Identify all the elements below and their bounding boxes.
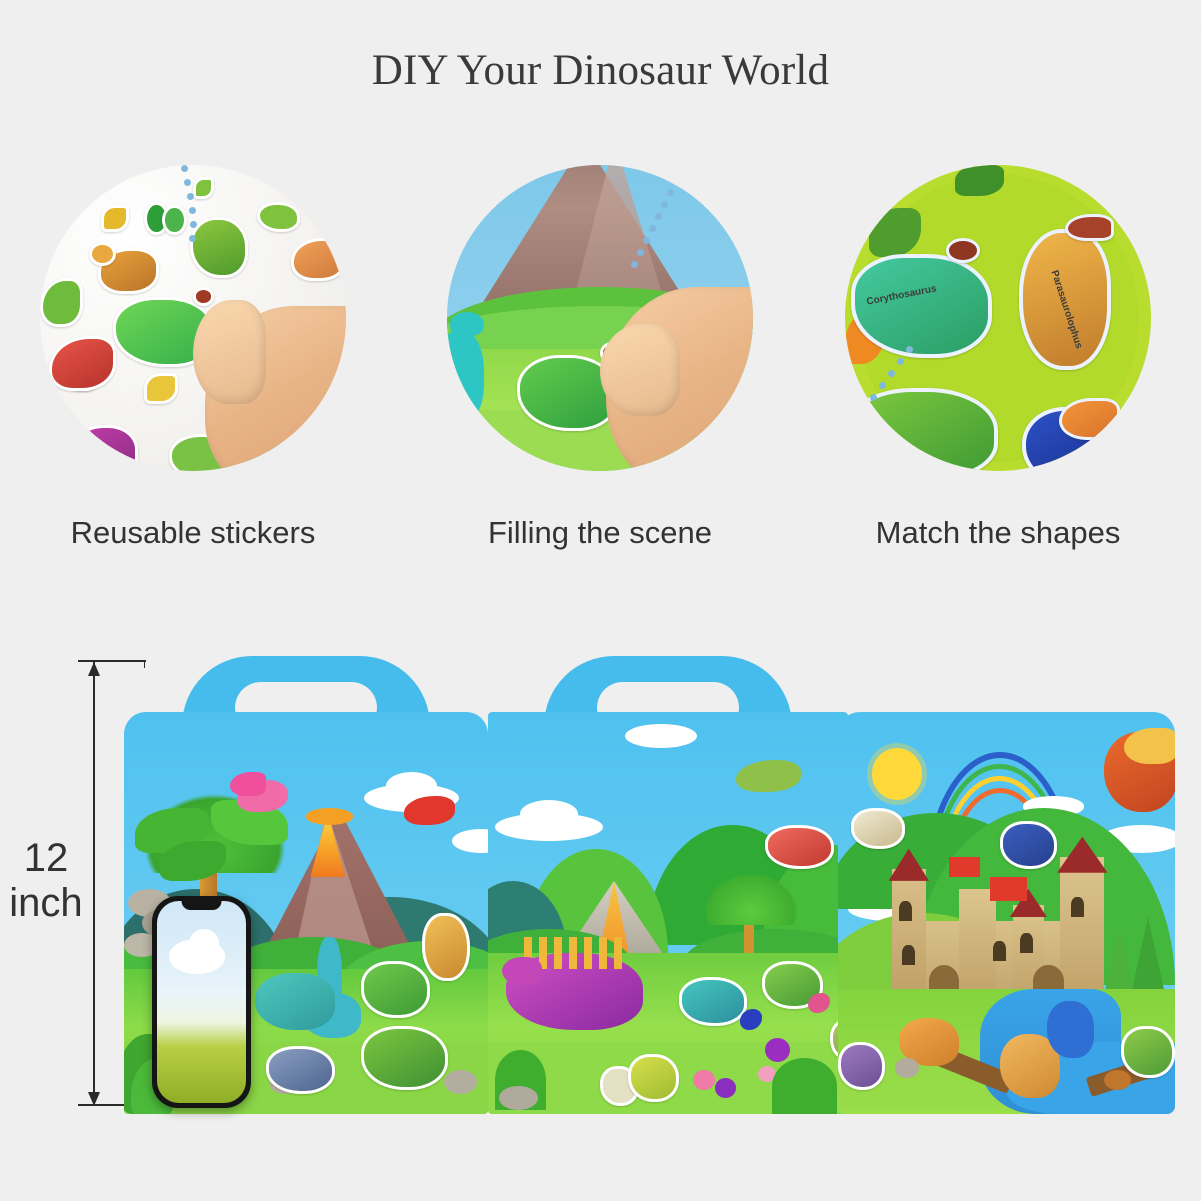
- page-title: DIY Your Dinosaur World: [0, 46, 1201, 95]
- dimension-label: 12 inch: [0, 836, 92, 926]
- grass-tuft: [772, 1058, 837, 1114]
- blue-triceratops-sticker: [266, 1046, 335, 1094]
- phone-notch: [181, 901, 222, 910]
- phone-wallpaper-cloud: [189, 929, 219, 957]
- smartphone-scale-reference: [152, 896, 251, 1108]
- blue-dinosaur: [447, 330, 484, 422]
- flower: [693, 1070, 715, 1090]
- dimension-line: [93, 662, 95, 1106]
- cave-people-sticker: [838, 1042, 885, 1090]
- rock: [499, 1086, 539, 1110]
- feature-caption: Reusable stickers: [23, 515, 363, 551]
- feature-image-filling-the-scene: [447, 165, 753, 471]
- red-pterosaur: [404, 796, 455, 824]
- castle-flag: [990, 877, 1027, 901]
- product-photo: [110, 652, 1175, 1114]
- blue-dinosaur: [1047, 1001, 1094, 1057]
- phone-screen: [157, 901, 246, 1103]
- leaf-sticker: [101, 205, 129, 233]
- dinosaur-crest: [1065, 214, 1114, 242]
- baby-dinosaur-sticker: [628, 1054, 678, 1102]
- castle-window: [1071, 897, 1084, 917]
- castle-window: [899, 901, 912, 921]
- feature-image-reusable-stickers: [40, 165, 346, 471]
- cloud: [625, 724, 697, 748]
- pink-pterosaur-wing: [230, 772, 266, 796]
- right-panel: [838, 712, 1175, 1114]
- palm-fronds: [704, 873, 798, 925]
- top-divider: [0, 28, 1201, 30]
- dimension-arrow-up-icon: [88, 662, 100, 676]
- green-dinosaur-sticker: [257, 202, 300, 233]
- leaf-sticker: [144, 373, 178, 404]
- index-finger: [600, 324, 680, 416]
- middle-panel: [488, 712, 848, 1114]
- castle-tower: [892, 869, 926, 998]
- rock: [1104, 1070, 1131, 1090]
- green-triceratops-sticker: [361, 1026, 448, 1090]
- teal-stegosaurus: [255, 973, 335, 1029]
- thumb: [193, 300, 266, 404]
- blue-dinosaur-head: [450, 312, 484, 336]
- green-raptor-sticker: [845, 388, 998, 471]
- flower: [765, 1038, 790, 1062]
- flower: [715, 1078, 737, 1098]
- feature-caption: Filling the scene: [430, 515, 770, 551]
- green-dinosaur-sticker: [1121, 1026, 1175, 1078]
- orange-pterosaur-sticker: [291, 238, 346, 281]
- rock: [895, 1058, 919, 1078]
- dinosaur-crest: [946, 238, 980, 262]
- green-dinosaur-sticker: [190, 217, 248, 278]
- leaf-sticker: [193, 177, 214, 198]
- dinosaur-crest: [193, 287, 214, 305]
- dimension-arrow-down-icon: [88, 1092, 100, 1106]
- feature-image-match-the-shapes: Corythosaurus Parasaurolophus: [845, 165, 1151, 471]
- castle-tower: [1060, 857, 1104, 998]
- dragon-wing: [1059, 398, 1120, 441]
- product-infographic: DIY Your Dinosaur World: [0, 0, 1201, 1201]
- feature-card-reusable-stickers: Reusable stickers: [23, 165, 363, 551]
- castle-flag: [949, 857, 979, 877]
- castle-window: [993, 941, 1006, 961]
- rock: [444, 1070, 477, 1094]
- feature-row: Reusable stickers: [0, 165, 1201, 595]
- orange-dinosaur-sticker: [422, 913, 469, 981]
- cloud: [520, 800, 578, 828]
- lava-crater: [306, 808, 353, 824]
- castle-window: [902, 945, 915, 965]
- red-pterosaur-sticker: [765, 825, 833, 869]
- dimension-value: 12: [0, 836, 92, 881]
- bird-sticker: [851, 808, 905, 848]
- dragon-wing: [1124, 728, 1175, 764]
- castle-window: [1020, 933, 1033, 953]
- teal-stegosaurus-sticker: [679, 977, 747, 1025]
- feature-card-filling-the-scene: Filling the scene: [430, 165, 770, 551]
- purple-stegosaurus-sticker: [71, 425, 138, 471]
- dinosaur-egg-sticker: [162, 205, 186, 236]
- dimension-unit: inch: [0, 881, 92, 926]
- green-dinosaur-sticker: [361, 961, 430, 1017]
- stegosaurus-head: [502, 957, 542, 985]
- feature-caption: Match the shapes: [828, 515, 1168, 551]
- castle-tower: [959, 889, 996, 998]
- leaf: [955, 165, 1004, 196]
- winged-horse-sticker: [1000, 821, 1057, 869]
- feature-card-match-the-shapes: Corythosaurus Parasaurolophus: [828, 165, 1168, 551]
